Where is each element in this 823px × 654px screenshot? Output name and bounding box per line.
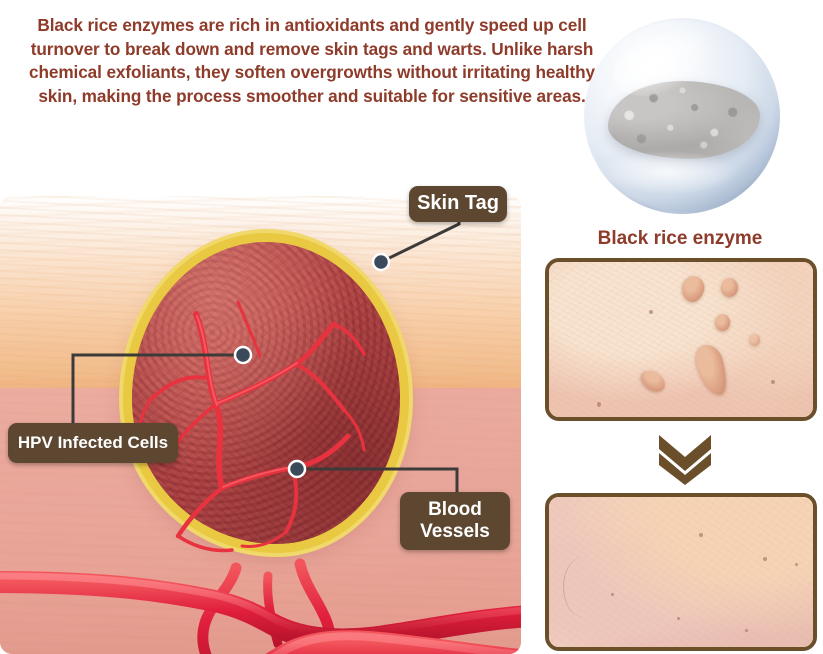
skin-tag-bump — [749, 334, 760, 346]
skin-mark — [611, 593, 614, 596]
black-rice-enzyme-caption: Black rice enzyme — [560, 228, 800, 250]
skin-mark — [763, 557, 767, 561]
skin-mark — [699, 533, 703, 537]
skin-mark — [745, 629, 748, 632]
before-photo — [545, 258, 817, 421]
callout-label-hpv-infected-cells: HPV Infected Cells — [8, 423, 178, 463]
before-skin-texture — [549, 262, 813, 417]
sphere-rim — [584, 18, 780, 214]
skin-mark — [795, 563, 798, 566]
double-chevron-down-icon — [655, 431, 715, 485]
header-paragraph: Black rice enzymes are rich in antioxida… — [8, 14, 616, 109]
blood-vessels-line-2: Vessels — [420, 521, 490, 543]
black-rice-enzyme-image — [584, 18, 780, 214]
skin-mark — [677, 617, 680, 620]
skin-mark — [649, 310, 653, 314]
callout-label-blood-vessels: Blood Vessels — [400, 492, 510, 550]
skin-tag-bump — [721, 278, 738, 297]
glass-sphere-icon — [584, 18, 780, 214]
skin-mark — [771, 380, 775, 384]
skin-mark — [597, 402, 601, 407]
blood-vessels-line-1: Blood — [428, 499, 482, 521]
callout-label-skin-tag: Skin Tag — [409, 186, 507, 222]
after-photo — [545, 493, 817, 651]
skin-tag-bump — [715, 314, 730, 331]
skin-mark — [563, 557, 603, 617]
